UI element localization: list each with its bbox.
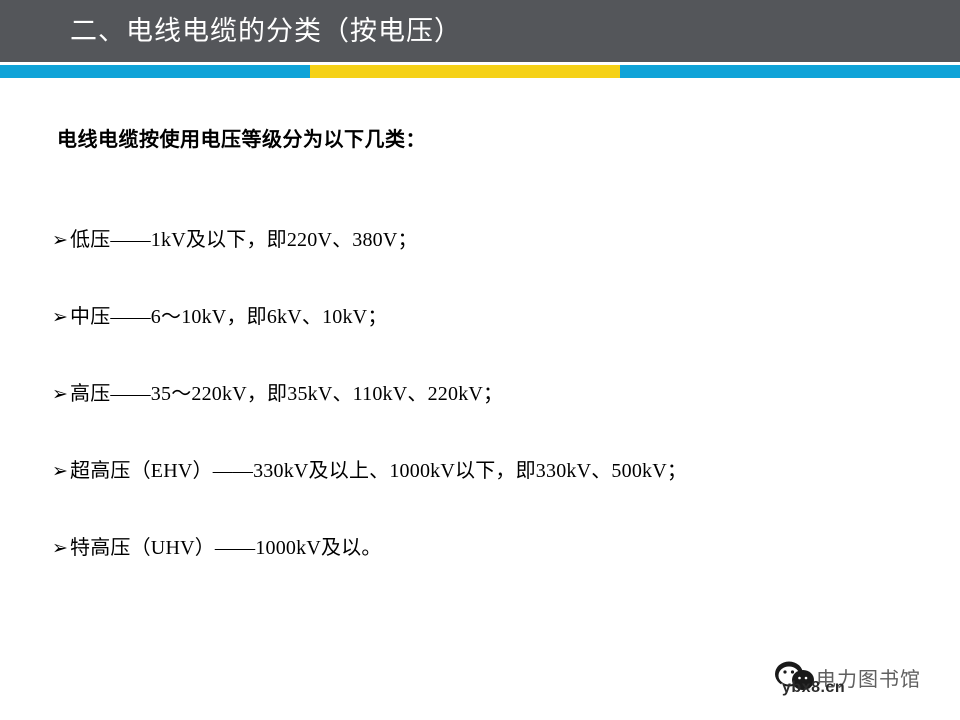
bullet-list: ➢ 低压——1kV及以下，即220V、380V； ➢ 中压——6～10kV，即6… bbox=[52, 223, 932, 608]
slide-body: 电线电缆按使用电压等级分为以下几类： ➢ 低压——1kV及以下，即220V、38… bbox=[0, 78, 960, 720]
list-item: ➢ 特高压（UHV）——1000kV及以。 bbox=[52, 531, 932, 608]
watermark-url: ybx8.cn bbox=[782, 679, 845, 697]
arrow-bullet-icon: ➢ bbox=[52, 539, 69, 558]
arrow-bullet-icon: ➢ bbox=[52, 385, 69, 404]
arrow-bullet-icon: ➢ bbox=[52, 308, 69, 327]
slide-header: 二、电线电缆的分类（按电压） bbox=[0, 0, 960, 62]
accent-segment-yellow bbox=[310, 65, 620, 78]
accent-bar bbox=[0, 65, 960, 78]
page-title: 二、电线电缆的分类（按电压） bbox=[70, 0, 462, 62]
slide-canvas: 二、电线电缆的分类（按电压） 电线电缆按使用电压等级分为以下几类： ➢ 低压——… bbox=[0, 0, 960, 720]
accent-segment-blue-left bbox=[0, 65, 310, 78]
list-item: ➢ 低压——1kV及以下，即220V、380V； bbox=[52, 223, 932, 300]
list-item: ➢ 超高压（EHV）——330kV及以上、1000kV以下，即330kV、500… bbox=[52, 454, 932, 531]
list-item-label: 中压——6～10kV，即6kV、10kV； bbox=[70, 300, 388, 329]
list-item-label: 高压——35～220kV，即35kV、110kV、220kV； bbox=[70, 377, 503, 406]
body-heading: 电线电缆按使用电压等级分为以下几类： bbox=[57, 123, 426, 152]
list-item-label: 特高压（UHV）——1000kV及以。 bbox=[70, 531, 382, 560]
arrow-bullet-icon: ➢ bbox=[52, 231, 69, 250]
list-item-label: 低压——1kV及以下，即220V、380V； bbox=[70, 223, 418, 252]
arrow-bullet-icon: ➢ bbox=[52, 462, 69, 481]
accent-segment-blue-right bbox=[620, 65, 960, 78]
list-item-label: 超高压（EHV）——330kV及以上、1000kV以下，即330kV、500kV… bbox=[70, 454, 687, 483]
watermark: 电力图书馆 ybx8.cn bbox=[770, 655, 960, 715]
list-item: ➢ 中压——6～10kV，即6kV、10kV； bbox=[52, 300, 932, 377]
list-item: ➢ 高压——35～220kV，即35kV、110kV、220kV； bbox=[52, 377, 932, 454]
